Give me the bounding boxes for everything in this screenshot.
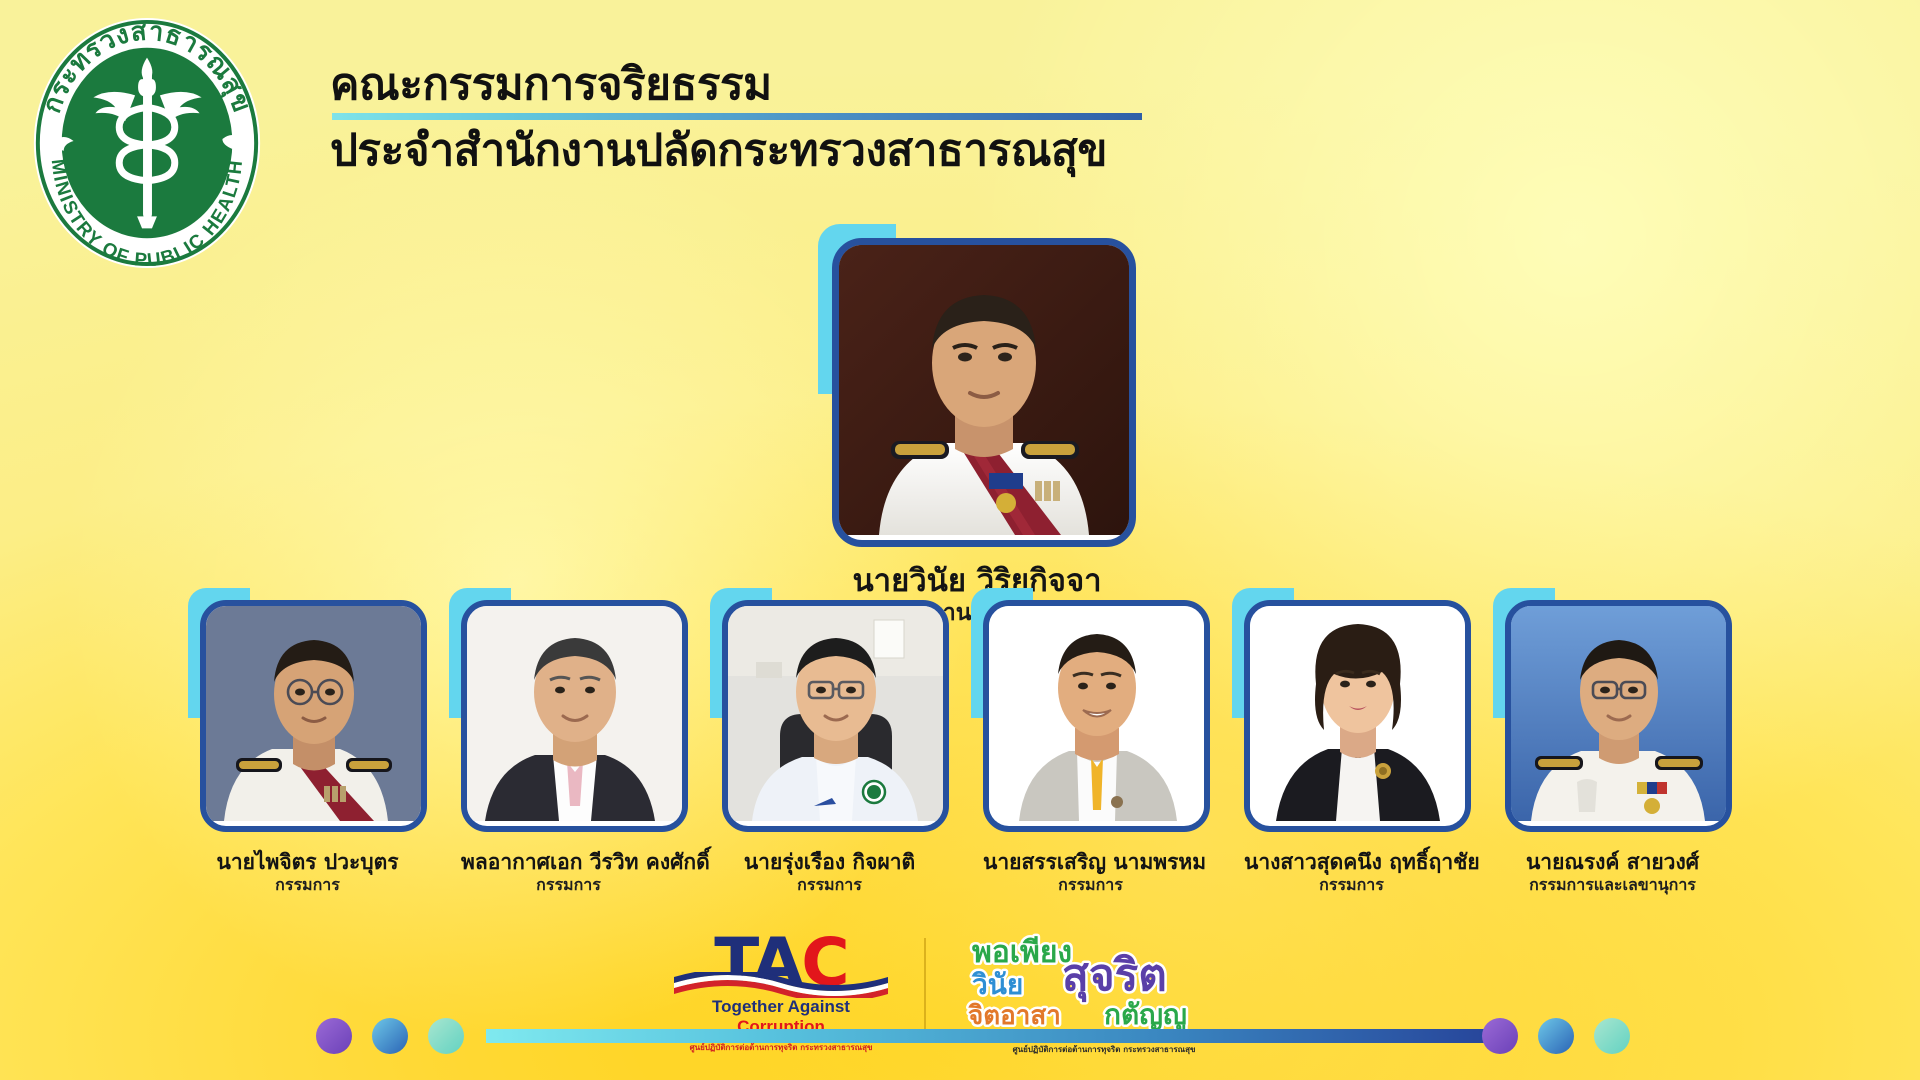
member-portrait-photo-5 <box>1250 606 1465 821</box>
member-role: กรรมการและเลขานุการ <box>1505 875 1720 895</box>
bottom-decoration <box>0 1018 1920 1058</box>
committee-members-row: นายไพจิตร ปวะบุตร กรรมการ <box>0 600 1920 895</box>
member-card[interactable]: นายรุ่งเรือง กิจผาติ กรรมการ <box>722 600 937 895</box>
member-role: กรรมการ <box>200 875 415 895</box>
deco-dot-purple-left <box>316 1018 352 1054</box>
page-title-line1: คณะกรรมการจริยธรรม <box>330 60 1230 109</box>
member-photo-border <box>1505 600 1732 832</box>
chairman-photo-frame <box>832 238 1136 547</box>
member-name: นายรุ่งเรือง กิจผาติ <box>722 850 937 875</box>
deco-dot-teal-right <box>1594 1018 1630 1054</box>
chairman-card[interactable]: นายวินัย วิริยกิจจา ประธานกรรมการ <box>832 238 1122 627</box>
member-name: นายสรรเสริญ นามพรหม <box>983 850 1198 875</box>
chairman-portrait-photo <box>839 245 1129 535</box>
member-photo-border <box>1244 600 1471 832</box>
tac-wordmark: TAC <box>666 932 896 995</box>
ministry-of-public-health-logo: กระทรวงสาธารณสุข MINISTRY OF PUBLIC HEAL… <box>18 12 276 270</box>
thai-flag-ribbon-icon <box>674 972 888 998</box>
sufficiency-word-1: พอเพียง <box>972 935 1072 970</box>
member-photo-frame <box>722 600 949 832</box>
member-name: นายไพจิตร ปวะบุตร <box>200 850 415 875</box>
deco-gradient-bar <box>486 1029 1486 1043</box>
member-photo-border <box>722 600 949 832</box>
member-photo-frame <box>983 600 1210 832</box>
deco-dot-blue-left <box>372 1018 408 1054</box>
member-role: กรรมการ <box>1244 875 1459 895</box>
member-portrait-photo-4 <box>989 606 1204 821</box>
member-photo-border <box>983 600 1210 832</box>
member-portrait-photo-1 <box>206 606 421 821</box>
member-photo-frame <box>1505 600 1732 832</box>
member-portrait-photo-2 <box>467 606 682 821</box>
member-portrait-photo-6 <box>1511 606 1726 821</box>
page-title-line2: ประจำสำนักงานปลัดกระทรวงสาธารณสุข <box>330 126 1230 175</box>
member-role: กรรมการ <box>722 875 937 895</box>
member-card[interactable]: นายไพจิตร ปวะบุตร กรรมการ <box>200 600 415 895</box>
member-photo-border <box>200 600 427 832</box>
member-role: กรรมการ <box>461 875 676 895</box>
slide-canvas: กระทรวงสาธารณสุข MINISTRY OF PUBLIC HEAL… <box>0 0 1920 1080</box>
member-photo-frame <box>200 600 427 832</box>
sufficiency-word-2: วินัย <box>971 968 1024 1001</box>
deco-dot-teal-left <box>428 1018 464 1054</box>
page-header: คณะกรรมการจริยธรรม ประจำสำนักงานปลัดกระท… <box>330 60 1230 176</box>
deco-dot-blue-right <box>1538 1018 1574 1054</box>
title-divider-rule <box>332 113 1142 120</box>
member-name: นางสาวสุดคนึง ฤทธิ์ฤาชัย <box>1244 850 1459 875</box>
member-name: พลอากาศเอก วีรวิท คงศักดิ์ <box>461 850 676 875</box>
member-card[interactable]: นายณรงค์ สายวงศ์ กรรมการและเลขานุการ <box>1505 600 1720 895</box>
member-photo-frame <box>1244 600 1471 832</box>
member-portrait-photo-3 <box>728 606 943 821</box>
member-name: นายณรงค์ สายวงศ์ <box>1505 850 1720 875</box>
sufficiency-word-3: สุจริต <box>1062 950 1167 1003</box>
deco-dot-purple-right <box>1482 1018 1518 1054</box>
member-photo-frame <box>461 600 688 832</box>
member-photo-border <box>461 600 688 832</box>
member-card[interactable]: พลอากาศเอก วีรวิท คงศักดิ์ กรรมการ <box>461 600 676 895</box>
member-card[interactable]: นายสรรเสริญ นามพรหม กรรมการ <box>983 600 1198 895</box>
chairman-photo-border <box>832 238 1136 547</box>
footer-divider <box>924 938 926 1030</box>
member-card[interactable]: นางสาวสุดคนึง ฤทธิ์ฤาชัย กรรมการ <box>1244 600 1459 895</box>
sufficiency-wordmark: พอเพียง วินัย สุจริต จิตอาสา กตัญญู <box>954 932 1254 1032</box>
member-role: กรรมการ <box>983 875 1198 895</box>
